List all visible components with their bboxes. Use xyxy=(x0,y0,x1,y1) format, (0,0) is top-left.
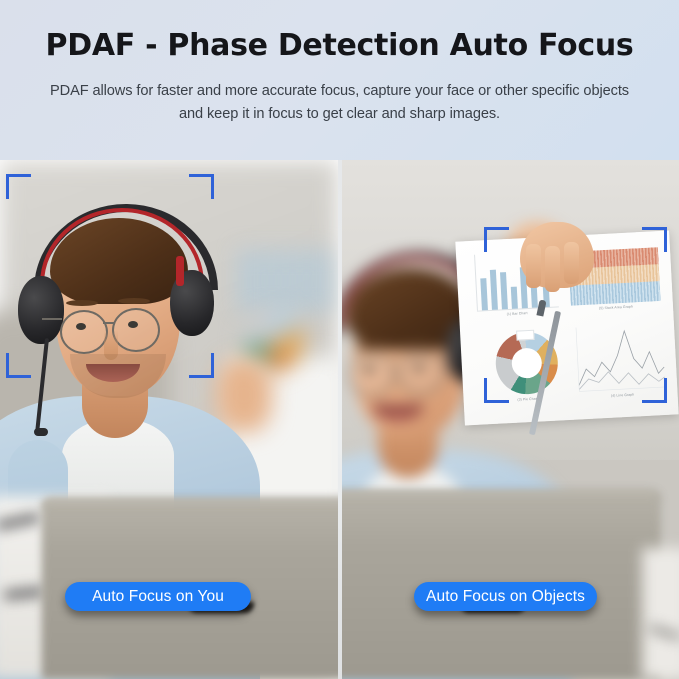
header-band: PDAF - Phase Detection Auto Focus PDAF a… xyxy=(0,0,679,160)
page-subtitle: PDAF allows for faster and more accurate… xyxy=(48,80,631,126)
focus-frame-left xyxy=(6,174,214,378)
product-feature-image: PDAF - Phase Detection Auto Focus PDAF a… xyxy=(0,0,679,679)
laptop-top-edge xyxy=(342,490,660,500)
focus-frame-right xyxy=(484,227,667,403)
callout-auto-focus-on-you[interactable]: Auto Focus on You xyxy=(65,582,251,611)
callout-auto-focus-on-objects[interactable]: Auto Focus on Objects xyxy=(414,582,597,611)
focus-bracket-icon xyxy=(6,174,31,199)
focus-bracket-icon xyxy=(189,353,214,378)
focus-bracket-icon xyxy=(484,227,509,252)
panel-divider xyxy=(338,160,342,679)
laptop-top-edge xyxy=(42,498,338,508)
focus-bracket-icon xyxy=(189,174,214,199)
desk-right-object xyxy=(642,548,679,679)
page-title: PDAF - Phase Detection Auto Focus xyxy=(0,28,679,63)
focus-bracket-icon xyxy=(6,353,31,378)
focus-bracket-icon xyxy=(642,378,667,403)
focus-bracket-icon xyxy=(642,227,667,252)
focus-bracket-icon xyxy=(484,378,509,403)
